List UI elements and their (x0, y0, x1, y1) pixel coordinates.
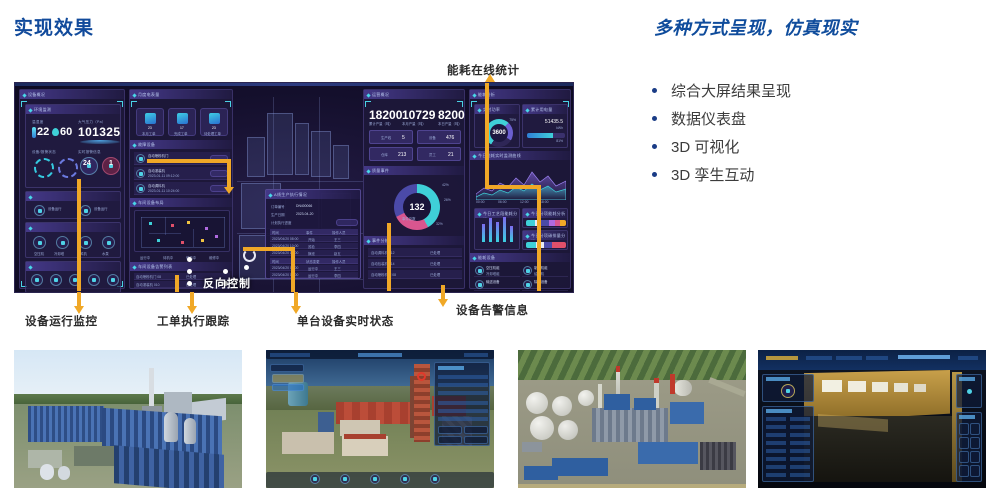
leader-line-4 (291, 247, 295, 293)
camera-tile-1[interactable] (959, 423, 969, 435)
process-unit-1 (592, 408, 668, 442)
map-dot-stopped-2 (201, 239, 204, 242)
energy-gauge-chart: 3600 (485, 119, 513, 147)
device-label-b3: 风机 (80, 251, 87, 256)
popup-field-date: 生产日期 (271, 212, 285, 217)
leader-line-2-h (147, 159, 231, 163)
label-day-output: 本日产量（吨） (438, 121, 462, 126)
workorder-card-3[interactable]: 23 待处理工单 (200, 108, 228, 136)
marker-dot-2 (187, 281, 192, 286)
header-actions[interactable] (958, 356, 978, 360)
panel-kpi-3 (438, 436, 462, 444)
dark-unit (700, 442, 736, 470)
chip-label: 设备 (429, 135, 436, 140)
bar-3 (496, 222, 499, 242)
device-icon-b4[interactable] (102, 236, 115, 249)
document-icon (145, 113, 156, 124)
slide-root: 实现效果 多种方式呈现，仿真现实 综合大屏结果呈现 数据仪表盘 3D 可视化 3… (0, 0, 1000, 498)
panel-title (766, 377, 790, 381)
header-time: 时间 (272, 230, 279, 235)
panel-kpi-4 (464, 436, 488, 444)
workorder-card-3-value: 23 (212, 126, 216, 130)
device-icon (475, 280, 484, 289)
panel-carbon-distribution[interactable]: 今日分项碳排量分析 (522, 230, 568, 250)
red-stack (670, 374, 675, 394)
legend-label-standby: 待机中 (163, 255, 173, 260)
device-icon-b2[interactable] (56, 236, 69, 249)
workorder-card-1-label: 本月工单 (142, 131, 156, 136)
device-name: 输送设备 (486, 279, 500, 284)
device-icon-c1[interactable] (31, 274, 43, 286)
stat-chip-warehouses[interactable]: 仓库 213 (369, 147, 413, 161)
panel-energy-distribution[interactable]: 今日分项能耗分析 (522, 208, 568, 228)
row-8a[interactable] (766, 473, 786, 477)
map-dot-standby (171, 224, 174, 227)
popup-field-progress: 计划执行进度 (271, 220, 291, 225)
list-item: 3D 孪生互动 (652, 160, 791, 188)
popup-field-order: 订单编号 (271, 204, 285, 209)
arrow-down-icon-3 (290, 292, 301, 314)
device-icon-c2[interactable] (50, 274, 62, 286)
cell-op: 王三 (334, 266, 341, 271)
row-5b[interactable] (790, 449, 810, 453)
popup-value-date: 2023-04-20 (296, 212, 313, 216)
panel-item-3[interactable] (438, 391, 488, 395)
callout-label-3: 单台设备实时状态 (297, 313, 394, 329)
panel-subtitle-alarm-table: 车间设备告警列表 (130, 262, 232, 271)
table-row[interactable]: 自动喷粉机门 08 已处理 (368, 270, 462, 279)
stack-top-band (616, 366, 620, 372)
leader-line-6 (537, 185, 541, 291)
arrow-down-icon-4 (437, 285, 448, 307)
list-item[interactable]: 自动灌装机 2023-01-11 09:12:00 (134, 167, 230, 180)
device-icon (475, 266, 484, 275)
map-marker-icon (967, 389, 972, 394)
gallery-image-chemical-plant-3d-model[interactable] (14, 350, 242, 488)
workorder-card-2-value: 17 (180, 126, 184, 130)
panel-subtitle-quality: 质量事件 (364, 166, 464, 175)
header-menu-items[interactable] (270, 353, 310, 357)
device-label-a1: 设备运行 (48, 206, 62, 211)
panel-title: 实时功率 (475, 105, 519, 114)
row-6b[interactable] (790, 457, 810, 461)
trend-tick-2: 06:00 (498, 200, 507, 204)
nav-icon-3[interactable] (370, 474, 380, 484)
row-4a[interactable] (766, 441, 786, 445)
page-title-left: 实现效果 (14, 13, 94, 40)
warehouse-roof (74, 446, 114, 466)
row-2a[interactable] (766, 425, 786, 429)
feature-bullet-list: 综合大屏结果呈现 数据仪表盘 3D 可视化 3D 孪生互动 (652, 76, 791, 188)
cell-op: 王三 (334, 237, 341, 242)
storage-tank-2 (552, 396, 572, 416)
header2-time: 时间 (272, 259, 279, 264)
panel-energy-gauge[interactable]: 实时功率 3600 75% (474, 104, 520, 148)
device-icon-a1[interactable] (34, 205, 45, 216)
leader-line-1 (77, 179, 81, 291)
marker-dot-4 (223, 269, 228, 274)
workorder-card-2[interactable]: 17 完成工单 (168, 108, 196, 136)
panel-title: 月度电表量 (130, 90, 232, 99)
panel-title: 环境监测 (26, 105, 120, 114)
device-label-b2: 冷却塔 (54, 251, 64, 256)
storage-tank-3 (530, 416, 554, 440)
panel-device-group-c[interactable] (25, 261, 121, 293)
overlay-popup-action[interactable] (272, 384, 304, 391)
callout-label-4: 设备告警信息 (456, 302, 529, 318)
window-3 (872, 382, 888, 392)
overlay-panel-camera-grid[interactable] (956, 412, 982, 482)
thermometer-icon (32, 127, 36, 138)
overlay-popup-body[interactable] (272, 374, 304, 383)
camera-tile-8[interactable] (970, 465, 980, 477)
cell-event: 巡检 (308, 244, 315, 249)
tank-2 (184, 418, 196, 444)
overlay-panel-device-list-left[interactable] (762, 406, 814, 482)
camera-tile-3[interactable] (959, 437, 969, 449)
camera-tile-4[interactable] (970, 437, 980, 449)
popup-detail-button[interactable] (336, 219, 358, 226)
legend-label-maintenance: 维修中 (209, 255, 219, 260)
nav-icon-5[interactable] (430, 474, 440, 484)
silo-1 (40, 464, 54, 480)
list-item-label: 综合大屏结果呈现 (671, 80, 791, 101)
leader-line-7 (387, 223, 391, 291)
overlay-popup-title[interactable] (270, 364, 304, 372)
value-devices-online: 24 (83, 160, 91, 167)
bullet-dot-icon (652, 88, 657, 93)
list-item-label: 3D 孪生互动 (671, 164, 754, 185)
panel-item-4[interactable] (438, 401, 488, 405)
gauge-value: 3600 (492, 130, 505, 136)
list-item-label: 3D 可视化 (671, 136, 739, 157)
chimney-2-band (654, 378, 659, 383)
trend-tick-3: 12:00 (520, 200, 529, 204)
cell-time: 2023/04/20 08:00 (272, 237, 298, 241)
blue-block-3 (670, 402, 704, 424)
stat-chip-devices[interactable]: 设备 476 (417, 130, 461, 144)
panel-item-5[interactable] (438, 409, 488, 413)
leader-arrow-reverse-control (224, 187, 234, 194)
warehouse-wall-lit (804, 370, 950, 422)
panel-title: 累计用电量 (523, 105, 567, 114)
distribution-segbar (526, 220, 566, 226)
bullet-dot-icon (652, 116, 657, 121)
overlay-right-panel[interactable] (434, 362, 490, 446)
unit-block-left-texture (28, 406, 104, 442)
list-item-action-button[interactable] (210, 170, 228, 177)
cell-state: 已处理 (430, 250, 440, 255)
device-icon-a2[interactable] (80, 205, 91, 216)
leader-line-2-v (227, 159, 231, 187)
panel-subtitle-events: 事件分析 (364, 236, 464, 245)
storage-tank-5 (578, 390, 594, 406)
workorder-card-3-label: 待处理工单 (204, 131, 221, 136)
panel-environment-monitor[interactable]: 环境监测 温湿度 大气压力（Pa） 22 60 101325 设备/报警状态 实… (25, 104, 121, 188)
panel-subtitle-layout: 车间设备布局 (130, 198, 232, 207)
window-2 (848, 381, 866, 392)
label-month-output: 本月产量（吨） (402, 121, 426, 126)
table2-header-row: 时间 状态变更 操作人员 (270, 258, 358, 264)
chip-label: 员工 (429, 152, 436, 157)
device-icon-b1[interactable] (33, 236, 46, 249)
donut-label: 事件总数 (402, 216, 416, 221)
bar-1 (482, 224, 485, 242)
tower-side (410, 376, 414, 438)
chip-value: 213 (398, 152, 406, 158)
panel-item-2[interactable] (438, 383, 488, 387)
list-item-label: 数据仪表盘 (671, 108, 746, 129)
device-label-a2: 设备运行 (94, 206, 108, 211)
overlay-bottom-nav[interactable] (266, 472, 494, 488)
cell-event: 换班 (308, 251, 315, 256)
panel-equipment-overview[interactable]: 设备概况 环境监测 温湿度 大气压力（Pa） 22 60 101325 设备/报… (19, 89, 125, 289)
meter-unit: kWh (556, 126, 563, 130)
cell-event: 运行中 (308, 273, 318, 278)
table-header-row: 时间 事件 操作人员 (270, 229, 358, 235)
tank-1 (164, 412, 178, 442)
panel-title (26, 192, 120, 201)
marker-dot-6 (244, 265, 249, 270)
alert-icon (136, 184, 145, 193)
row-7b[interactable] (790, 465, 810, 469)
map-dot-maintenance-2 (215, 235, 218, 238)
window-4 (894, 383, 908, 392)
field-label-temp: 温湿度 (32, 120, 43, 125)
panel-title: 今日工艺段能耗分析 (475, 209, 519, 218)
panel-subtitle-device-list: 能耗设备 (470, 253, 570, 262)
device-label-b1: 空压机 (34, 251, 44, 256)
cell-name: 自动包装机 014 (371, 261, 395, 266)
map-dot-maintenance (205, 227, 208, 230)
header-title (358, 353, 402, 357)
list-item[interactable]: 输送设备 (474, 279, 520, 291)
header-tab-1[interactable] (806, 356, 832, 360)
panel-energy-meter[interactable]: 累计用电量 51435.5 kWh 81% (522, 104, 568, 148)
value-temperature: 22 (37, 126, 49, 138)
dorm-row (282, 432, 334, 454)
header-tab-3[interactable] (866, 356, 888, 360)
panel-energy-compare[interactable]: 今日工艺段能耗分析 (474, 208, 520, 250)
value-day-output: 8200 (438, 108, 465, 122)
chip-label: 生产线 (381, 135, 391, 140)
row-6a[interactable] (766, 457, 786, 461)
pressure-underline-glow (80, 140, 120, 144)
panel-item-1[interactable] (438, 375, 488, 379)
workorder-card-1[interactable]: 23 本月工单 (136, 108, 164, 136)
list-item: 数据仪表盘 (652, 104, 791, 132)
header-actions[interactable] (464, 353, 488, 357)
nav-icon-1[interactable] (310, 474, 320, 484)
device-name: 空压机组 (486, 265, 500, 270)
energy-trend-area-chart (476, 164, 566, 200)
donut-legend-2: 26% (444, 198, 451, 202)
header-op: 操作人员 (332, 230, 346, 235)
trend-svg (476, 164, 566, 200)
cell-name: 自动喷粉机门 08 (136, 274, 161, 279)
office-building (342, 436, 388, 456)
app-header-bar (758, 350, 986, 370)
table-row[interactable]: 2023/04/20 12:00 运行中 李四 (270, 272, 358, 278)
cell-state: 已处理 (186, 274, 196, 279)
gallery-image-refinery-aerial-3d[interactable] (518, 350, 746, 488)
nav-icon-4[interactable] (400, 474, 410, 484)
list-item[interactable]: 自动调料机 2023-01-11 10:24:00 (134, 182, 230, 195)
overlay-panel-map[interactable] (956, 374, 982, 408)
donut-value: 132 (409, 202, 424, 212)
chip-label: 仓库 (381, 152, 388, 157)
blue-block-2 (634, 398, 656, 410)
status-ring-2 (58, 158, 78, 178)
row-4b[interactable] (790, 441, 810, 445)
bar-5 (510, 226, 513, 242)
workorder-card-1-value: 23 (148, 126, 152, 130)
field-label-status: 设备/报警状态 (32, 150, 56, 155)
chimney-3 (598, 384, 602, 410)
chip-value: 5 (402, 135, 405, 141)
row-1b[interactable] (790, 417, 810, 421)
meter-pct: 81% (556, 139, 563, 143)
cell-name: 自动调料机 012 (371, 250, 395, 255)
row-3b[interactable] (790, 433, 810, 437)
nav-icon-2[interactable] (340, 474, 350, 484)
panel-operation-stats[interactable]: 运营概况 18200 累计产量（吨） 10729 本月产量（吨） 8200 本日… (363, 89, 465, 289)
carbon-segbar (526, 242, 566, 248)
list-item[interactable]: 空压机组 冷却塔组 (474, 265, 520, 277)
dashboard-screenshot[interactable]: 设备概况 环境监测 温湿度 大气压力（Pa） 22 60 101325 设备/报… (14, 82, 574, 293)
chip-value: 476 (446, 135, 454, 141)
cell-state: 已处理 (430, 272, 440, 277)
panel-title: 设备概况 (20, 90, 124, 99)
donut-legend-1: 42% (442, 183, 449, 187)
row-5a[interactable] (766, 449, 786, 453)
bar-4 (503, 217, 506, 242)
device-icon-c4[interactable] (88, 274, 100, 286)
bullet-dot-icon (652, 172, 657, 177)
row-3a[interactable] (766, 433, 786, 437)
panel-title: 今日分项碳排量分析 (523, 231, 567, 240)
meter-progress-bar (527, 133, 565, 138)
cell-name: 自动灌装机 010 (136, 282, 160, 287)
office-roof (344, 434, 386, 439)
table-row[interactable]: 自动包装机 014 已处理 (368, 259, 462, 268)
list-item[interactable]: 制粉机组 给料机 (522, 265, 568, 277)
leader-line-5-h (485, 185, 541, 189)
meter-value: 51435.5 (545, 119, 563, 125)
panel-title (26, 223, 120, 232)
list-item-name: 自动灌装机 (148, 168, 165, 173)
header-tab-2[interactable] (836, 356, 862, 360)
panel-subtitle-faulty: 故障设备 (130, 140, 232, 149)
row-8b[interactable] (790, 473, 810, 477)
device-icon-c5[interactable] (107, 274, 119, 286)
gallery-image-indoor-warehouse-twin[interactable] (758, 350, 986, 488)
value-month-output: 10729 (402, 108, 435, 122)
header-logo (766, 356, 798, 360)
table-row[interactable]: 2023/04/20 08:00 开始 王三 (270, 236, 358, 242)
value-total-output: 18200 (369, 108, 402, 122)
header-title (898, 355, 950, 359)
row-7a[interactable] (766, 465, 786, 469)
document-icon (177, 113, 188, 124)
device-icon (523, 280, 532, 289)
camera-tile-6[interactable] (970, 451, 980, 463)
popup-production-plan[interactable]: A线生产执行情况 订单编号 DN400066 生产日期 2023-04-20 计… (265, 189, 361, 279)
cell-name: 自动喷粉机门 08 (371, 272, 396, 277)
alert-icon (136, 154, 145, 163)
panel-title: 今日分项能耗分析 (523, 209, 567, 218)
silo-2 (58, 466, 70, 480)
table-row[interactable]: 自动调料机 012 已处理 (368, 248, 462, 257)
storage-tank-1 (526, 392, 548, 414)
camera-preview-icon (781, 384, 795, 398)
callout-label-2: 工单执行跟踪 (157, 313, 230, 329)
value-pressure: 101325 (78, 125, 120, 139)
small-shed (522, 442, 542, 452)
row-1a[interactable] (766, 417, 786, 421)
panel-title: 运营概况 (364, 90, 464, 99)
list-item-time: 2023-01-11 09:12:00 (148, 174, 179, 178)
refresh-icon[interactable] (243, 249, 256, 262)
trend-tick-4: 18:00 (540, 200, 549, 204)
map-dot-running-2 (157, 239, 160, 242)
gallery-image-cement-plant-digital-twin[interactable] (266, 350, 494, 488)
panel-title (959, 415, 975, 419)
camera-tile-7[interactable] (959, 465, 969, 477)
stat-chip-staff[interactable]: 员工 21 (417, 147, 461, 161)
humidity-droplet-icon (52, 128, 59, 136)
workshop-layout-map[interactable] (134, 210, 230, 252)
list-item[interactable]: 除尘设备 (522, 279, 568, 291)
panel-device-group-b[interactable]: 空压机 冷却塔 风机 水泵 (25, 222, 121, 258)
table-row[interactable]: 2023/04/20 08:00 运行中 王三 (270, 265, 358, 271)
bar-2 (489, 218, 492, 242)
alert-icon (136, 169, 145, 178)
blue-block-6 (524, 466, 558, 480)
popup-value-order: DN400066 (296, 204, 312, 208)
document-icon (209, 113, 220, 124)
list-item-name: 自动调料机 (148, 183, 165, 188)
panel-title (438, 366, 464, 370)
panel-item-6[interactable] (438, 417, 488, 421)
header2-state: 状态变更 (306, 259, 320, 264)
label-total-output: 累计产量（吨） (369, 121, 393, 126)
header-event: 事件 (306, 230, 313, 235)
overlay-panel-camera[interactable] (762, 374, 814, 402)
bullet-dot-icon (652, 144, 657, 149)
device-icon (523, 266, 532, 275)
row-2b[interactable] (790, 425, 810, 429)
map-dot-standby-2 (181, 241, 184, 244)
panel-work-orders[interactable]: 月度电表量 23 本月工单 17 完成工单 23 待处理工单 故障设备 自 (129, 89, 233, 289)
callout-label-1: 设备运行监控 (25, 313, 98, 329)
workorder-card-2-label: 完成工单 (174, 131, 188, 136)
map-dot-stopped (187, 221, 190, 224)
marker-dot-3 (187, 257, 192, 262)
round-tank (674, 380, 692, 396)
panel-device-group-a[interactable]: 设备运行 设备运行 (25, 191, 121, 219)
alarm-marker-icon (417, 372, 426, 381)
cell-op: 李四 (334, 273, 341, 278)
reverse-control-label: 反向控制 (203, 275, 251, 291)
quality-donut-chart: 132 (394, 184, 440, 230)
cell-event: 运行中 (308, 266, 318, 271)
camera-tile-2[interactable] (970, 423, 980, 435)
camera-tile-5[interactable] (959, 451, 969, 463)
stat-chip-lines[interactable]: 生产线 5 (369, 130, 413, 144)
arrow-down-icon-2 (186, 292, 197, 314)
blue-block-4 (638, 442, 698, 464)
